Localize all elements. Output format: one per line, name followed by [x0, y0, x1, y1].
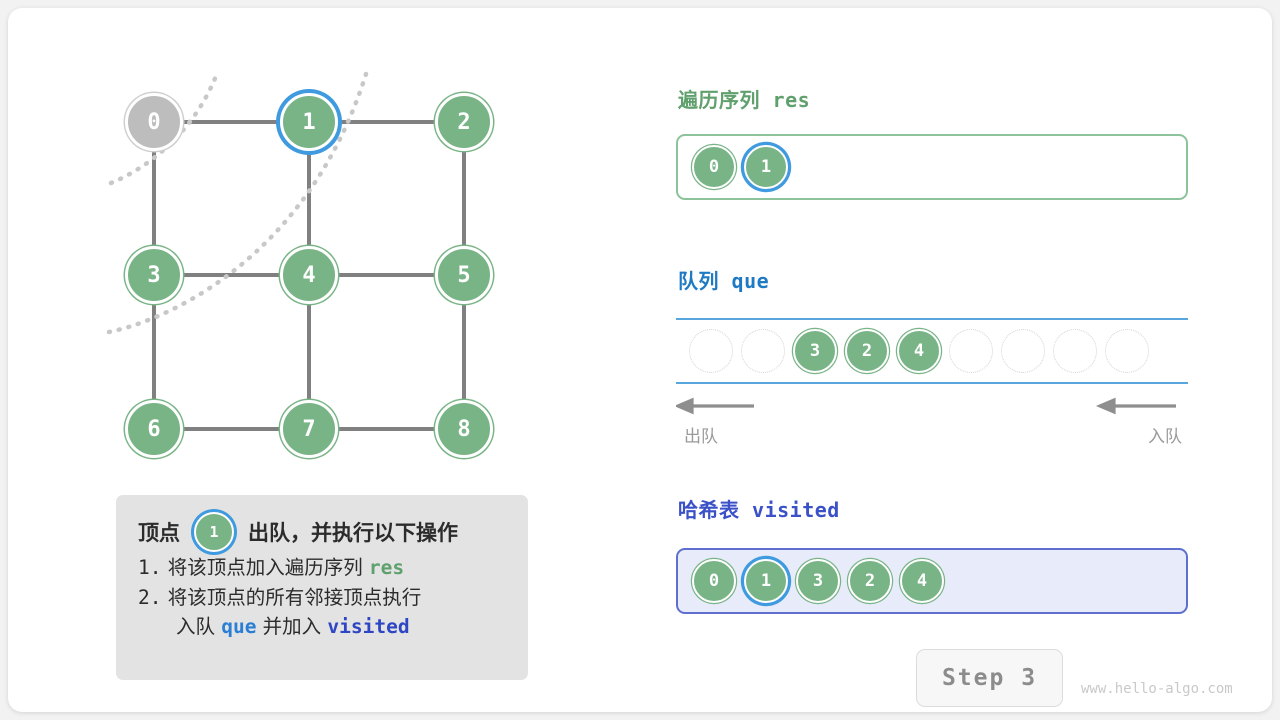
graph-node-label: 2	[457, 110, 470, 135]
queue-slot[interactable]	[1105, 329, 1149, 373]
graph-node-2[interactable]: 2	[435, 93, 493, 151]
visited-item-label: 0	[709, 571, 719, 591]
caption-step-1-keyword: res	[369, 556, 404, 579]
queue-slot[interactable]	[689, 329, 733, 373]
graph-node-label: 4	[302, 263, 315, 288]
graph-node-label: 1	[302, 110, 315, 135]
canvas-card: 0 1 2 3 4 5 6 7 8 顶点 1 出队，并执行以下操作 1. 将该顶…	[8, 8, 1272, 712]
queue-slot[interactable]: 3	[793, 329, 837, 373]
visited-item-label: 4	[917, 571, 927, 591]
res-item-label: 0	[709, 157, 719, 177]
caption-step-1-text: 将该顶点加入遍历序列	[168, 556, 363, 579]
queue-dequeue-label: 出队	[684, 422, 718, 447]
graph-node-6[interactable]: 6	[125, 400, 183, 458]
caption-step-2-text: 将该顶点的所有邻接顶点执行	[168, 586, 422, 609]
queue-rail-top	[676, 318, 1188, 320]
caption-head-suffix: 出队，并执行以下操作	[248, 517, 458, 547]
caption-step-1-number: 1.	[138, 556, 161, 579]
caption-step-2-a: 入队	[176, 615, 215, 638]
graph-node-7[interactable]: 7	[280, 400, 338, 458]
queue-enqueue-label: 入队	[1148, 422, 1182, 447]
graph-node-1[interactable]: 1	[280, 93, 338, 151]
res-container: 0 1	[676, 134, 1188, 200]
graph-node-8[interactable]: 8	[435, 400, 493, 458]
caption-box: 顶点 1 出队，并执行以下操作 1. 将该顶点加入遍历序列 res 2. 将该顶…	[116, 495, 528, 680]
caption-node-label: 1	[209, 523, 218, 541]
step-badge: Step 3	[916, 649, 1063, 707]
queue-slot[interactable]	[949, 329, 993, 373]
queue-direction-arrows: 出队 入队	[676, 394, 1188, 446]
visited-title: 哈希表 visited	[678, 494, 840, 523]
queue-slot-label: 3	[810, 341, 820, 361]
graph-node-5[interactable]: 5	[435, 246, 493, 304]
caption-step-2-cont: 入队 que 并加入 visited	[138, 612, 508, 642]
res-title: 遍历序列 res	[678, 84, 810, 113]
visited-item-label: 3	[813, 571, 823, 591]
graph-node-label: 0	[147, 110, 160, 135]
visited-item-label: 2	[865, 571, 875, 591]
visited-item-current[interactable]: 1	[744, 559, 788, 603]
visited-item[interactable]: 4	[900, 559, 944, 603]
visited-item[interactable]: 0	[692, 559, 736, 603]
caption-step-2-b: 并加入	[263, 615, 322, 638]
queue-slot[interactable]	[1001, 329, 1045, 373]
queue-slot[interactable]	[1053, 329, 1097, 373]
caption-step-1: 1. 将该顶点加入遍历序列 res	[138, 553, 508, 583]
watermark: www.hello-algo.com	[1081, 681, 1233, 697]
graph-node-label: 7	[302, 417, 315, 442]
graph-node-label: 6	[147, 417, 160, 442]
caption-head-prefix: 顶点	[138, 517, 180, 547]
graph-node-3[interactable]: 3	[125, 246, 183, 304]
queue-slot[interactable]: 2	[845, 329, 889, 373]
queue-container: 3 2 4	[676, 318, 1188, 384]
queue-slot-label: 2	[862, 341, 872, 361]
queue-arrows-svg	[676, 394, 1188, 418]
res-item-label: 1	[761, 157, 771, 177]
caption-step-2-number: 2.	[138, 586, 161, 609]
graph-node-0[interactable]: 0	[125, 93, 183, 151]
caption-keyword-que: que	[221, 615, 256, 638]
graph-node-label: 8	[457, 417, 470, 442]
queue-slot[interactable]	[741, 329, 785, 373]
caption-step-2: 2. 将该顶点的所有邻接顶点执行	[138, 583, 508, 613]
caption-node-badge: 1	[194, 512, 234, 552]
queue-slot-label: 4	[914, 341, 924, 361]
res-item-current[interactable]: 1	[744, 145, 788, 189]
graph-node-label: 3	[147, 263, 160, 288]
caption-keyword-visited: visited	[327, 615, 409, 638]
visited-container: 0 1 3 2 4	[676, 548, 1188, 614]
visited-item-label: 1	[761, 571, 771, 591]
visited-item[interactable]: 2	[848, 559, 892, 603]
queue-rail-bottom	[676, 382, 1188, 384]
graph-diagram: 0 1 2 3 4 5 6 7 8	[8, 8, 628, 488]
visited-item[interactable]: 3	[796, 559, 840, 603]
res-item[interactable]: 0	[692, 145, 736, 189]
graph-node-4[interactable]: 4	[280, 246, 338, 304]
graph-node-label: 5	[457, 263, 470, 288]
caption-heading: 顶点 1 出队，并执行以下操作	[138, 511, 508, 553]
queue-slot[interactable]: 4	[897, 329, 941, 373]
queue-title: 队列 que	[678, 265, 769, 294]
